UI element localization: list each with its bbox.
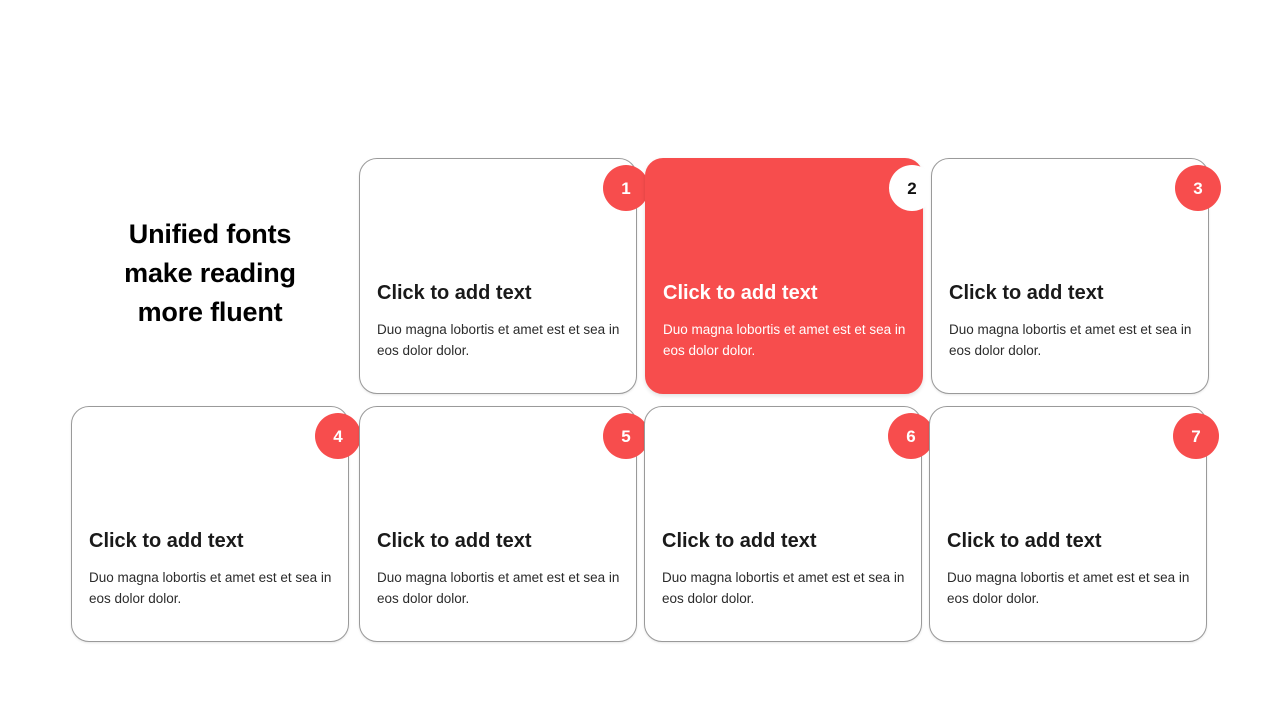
- card-1-heading[interactable]: Click to add text: [377, 281, 622, 305]
- slide-canvas: Unified fonts make reading more fluent 1…: [0, 0, 1280, 720]
- card-4-body: Click to add text Duo magna lobortis et …: [89, 529, 334, 609]
- page-title-line-1: Unified fonts: [72, 215, 348, 254]
- card-7[interactable]: 7 Click to add text Duo magna lobortis e…: [929, 406, 1207, 642]
- card-7-heading[interactable]: Click to add text: [947, 529, 1192, 553]
- card-7-description[interactable]: Duo magna lobortis et amet est et sea in…: [947, 567, 1192, 609]
- card-2-badge: 2: [889, 165, 935, 211]
- card-2-heading[interactable]: Click to add text: [663, 281, 908, 305]
- page-title-line-2: make reading: [72, 254, 348, 293]
- card-4[interactable]: 4 Click to add text Duo magna lobortis e…: [71, 406, 349, 642]
- card-6-description[interactable]: Duo magna lobortis et amet est et sea in…: [662, 567, 907, 609]
- card-7-body: Click to add text Duo magna lobortis et …: [947, 529, 1192, 609]
- card-4-description[interactable]: Duo magna lobortis et amet est et sea in…: [89, 567, 334, 609]
- card-6-body: Click to add text Duo magna lobortis et …: [662, 529, 907, 609]
- card-1-description[interactable]: Duo magna lobortis et amet est et sea in…: [377, 319, 622, 361]
- card-1-badge: 1: [603, 165, 649, 211]
- card-5[interactable]: 5 Click to add text Duo magna lobortis e…: [359, 406, 637, 642]
- card-7-badge: 7: [1173, 413, 1219, 459]
- card-5-heading[interactable]: Click to add text: [377, 529, 622, 553]
- card-6-heading[interactable]: Click to add text: [662, 529, 907, 553]
- card-1[interactable]: 1 Click to add text Duo magna lobortis e…: [359, 158, 637, 394]
- card-4-heading[interactable]: Click to add text: [89, 529, 334, 553]
- page-title: Unified fonts make reading more fluent: [72, 215, 348, 332]
- card-3[interactable]: 3 Click to add text Duo magna lobortis e…: [931, 158, 1209, 394]
- card-3-description[interactable]: Duo magna lobortis et amet est et sea in…: [949, 319, 1194, 361]
- card-2-description[interactable]: Duo magna lobortis et amet est et sea in…: [663, 319, 908, 361]
- card-5-body: Click to add text Duo magna lobortis et …: [377, 529, 622, 609]
- card-5-description[interactable]: Duo magna lobortis et amet est et sea in…: [377, 567, 622, 609]
- card-3-badge: 3: [1175, 165, 1221, 211]
- card-6-badge: 6: [888, 413, 934, 459]
- card-2[interactable]: 2 Click to add text Duo magna lobortis e…: [645, 158, 923, 394]
- card-3-heading[interactable]: Click to add text: [949, 281, 1194, 305]
- card-4-badge: 4: [315, 413, 361, 459]
- card-1-body: Click to add text Duo magna lobortis et …: [377, 281, 622, 361]
- card-5-badge: 5: [603, 413, 649, 459]
- page-title-line-3: more fluent: [72, 293, 348, 332]
- card-2-body: Click to add text Duo magna lobortis et …: [663, 281, 908, 361]
- card-6[interactable]: 6 Click to add text Duo magna lobortis e…: [644, 406, 922, 642]
- card-3-body: Click to add text Duo magna lobortis et …: [949, 281, 1194, 361]
